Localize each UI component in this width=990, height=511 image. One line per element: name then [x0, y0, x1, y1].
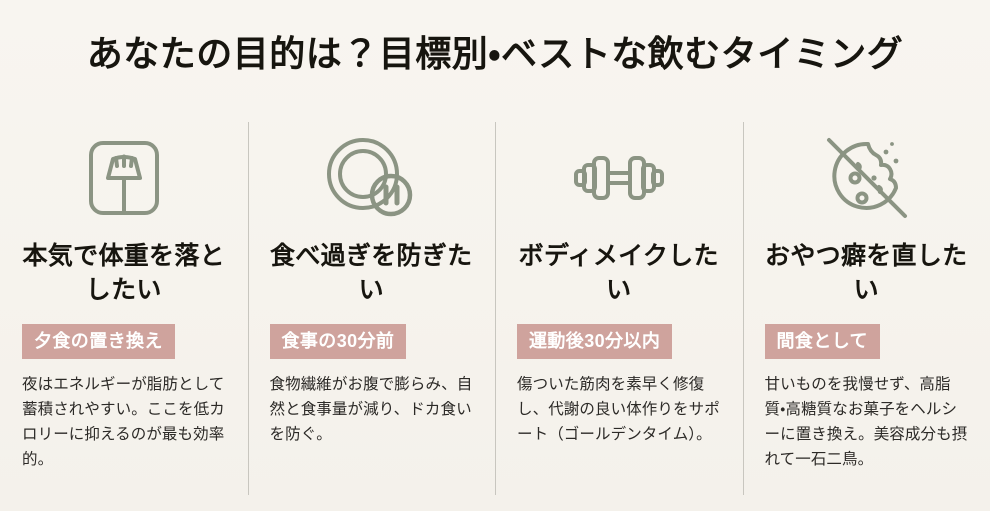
timing-badge: 間食として	[765, 324, 880, 359]
badge-row: 運動後30分以内	[517, 324, 721, 359]
infographic-page: あなたの目的は？目標別・ベストな飲むタイミング 本気で体重を落としたい 夕食の置…	[0, 0, 990, 511]
timing-badge: 運動後30分以内	[517, 324, 672, 359]
timing-badge: 食事の30分前	[270, 324, 407, 359]
column-snacking: おやつ癖を直したい 間食として 甘いものを我慢せず、高脂質・高糖質なお菓子をヘル…	[743, 112, 990, 511]
badge-row: 夕食の置き換え	[22, 324, 226, 359]
column-body-text: 夜はエネルギーが脂肪として蓄積されやすい。ここを低カロリーに抑えるのが最も効率的…	[22, 372, 226, 472]
column-bodymake: ボディメイクしたい 運動後30分以内 傷ついた筋肉を素早く修復し、代謝の良い体作…	[495, 112, 743, 511]
timing-badge: 夕食の置き換え	[22, 324, 175, 359]
column-heading: ボディメイクしたい	[517, 240, 721, 308]
weight-scale-icon	[78, 126, 170, 230]
column-overeating: 食べ過ぎを防ぎたい 食事の30分前 食物繊維がお腹で膨らみ、自然と食事量が減り、…	[248, 112, 496, 511]
column-weight-loss: 本気で体重を落としたい 夕食の置き換え 夜はエネルギーが脂肪として蓄積されやすい…	[0, 112, 248, 511]
badge-row: 間食として	[765, 324, 969, 359]
dumbbell-icon	[567, 126, 671, 230]
column-heading: 本気で体重を落としたい	[22, 240, 226, 308]
title-bar: あなたの目的は？目標別・ベストな飲むタイミング	[0, 0, 990, 108]
no-cookie-icon	[816, 126, 916, 230]
column-body-text: 甘いものを我慢せず、高脂質・高糖質なお菓子をヘルシーに置き換え。美容成分も摂れて…	[765, 372, 969, 472]
columns-container: 本気で体重を落としたい 夕食の置き換え 夜はエネルギーが脂肪として蓄積されやすい…	[0, 112, 990, 511]
badge-row: 食事の30分前	[270, 324, 474, 359]
column-body-text: 傷ついた筋肉を素早く修復し、代謝の良い体作りをサポート（ゴールデンタイム）。	[517, 372, 721, 447]
column-body-text: 食物繊維がお腹で膨らみ、自然と食事量が減り、ドカ食いを防ぐ。	[270, 372, 474, 447]
column-heading: おやつ癖を直したい	[765, 240, 969, 308]
page-title: あなたの目的は？目標別・ベストな飲むタイミング	[87, 36, 903, 72]
column-heading: 食べ過ぎを防ぎたい	[270, 240, 474, 308]
plate-pause-icon	[321, 126, 421, 230]
